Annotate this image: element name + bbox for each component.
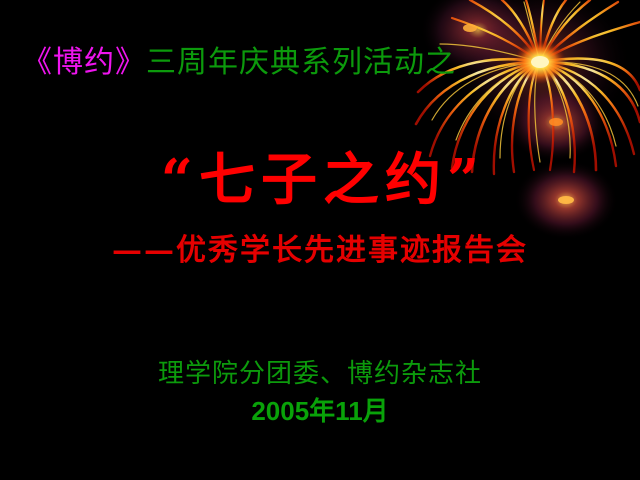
main-title: “七子之约” xyxy=(0,152,640,208)
headline-rest-text: 三周年庆典系列活动之 xyxy=(146,46,456,79)
presentation-slide: 《博约》三周年庆典系列活动之 “七子之约” ——优秀学长先进事迹报告会 理学院分… xyxy=(0,0,640,480)
footer-date: 2005年11月 xyxy=(0,398,640,424)
headline-brand-text: 《博约》 xyxy=(22,46,146,79)
footer-organization: 理学院分团委、博约杂志社 xyxy=(0,360,640,386)
sub-title: ——优秀学长先进事迹报告会 xyxy=(0,236,640,266)
headline-row: 《博约》三周年庆典系列活动之 xyxy=(0,48,640,78)
